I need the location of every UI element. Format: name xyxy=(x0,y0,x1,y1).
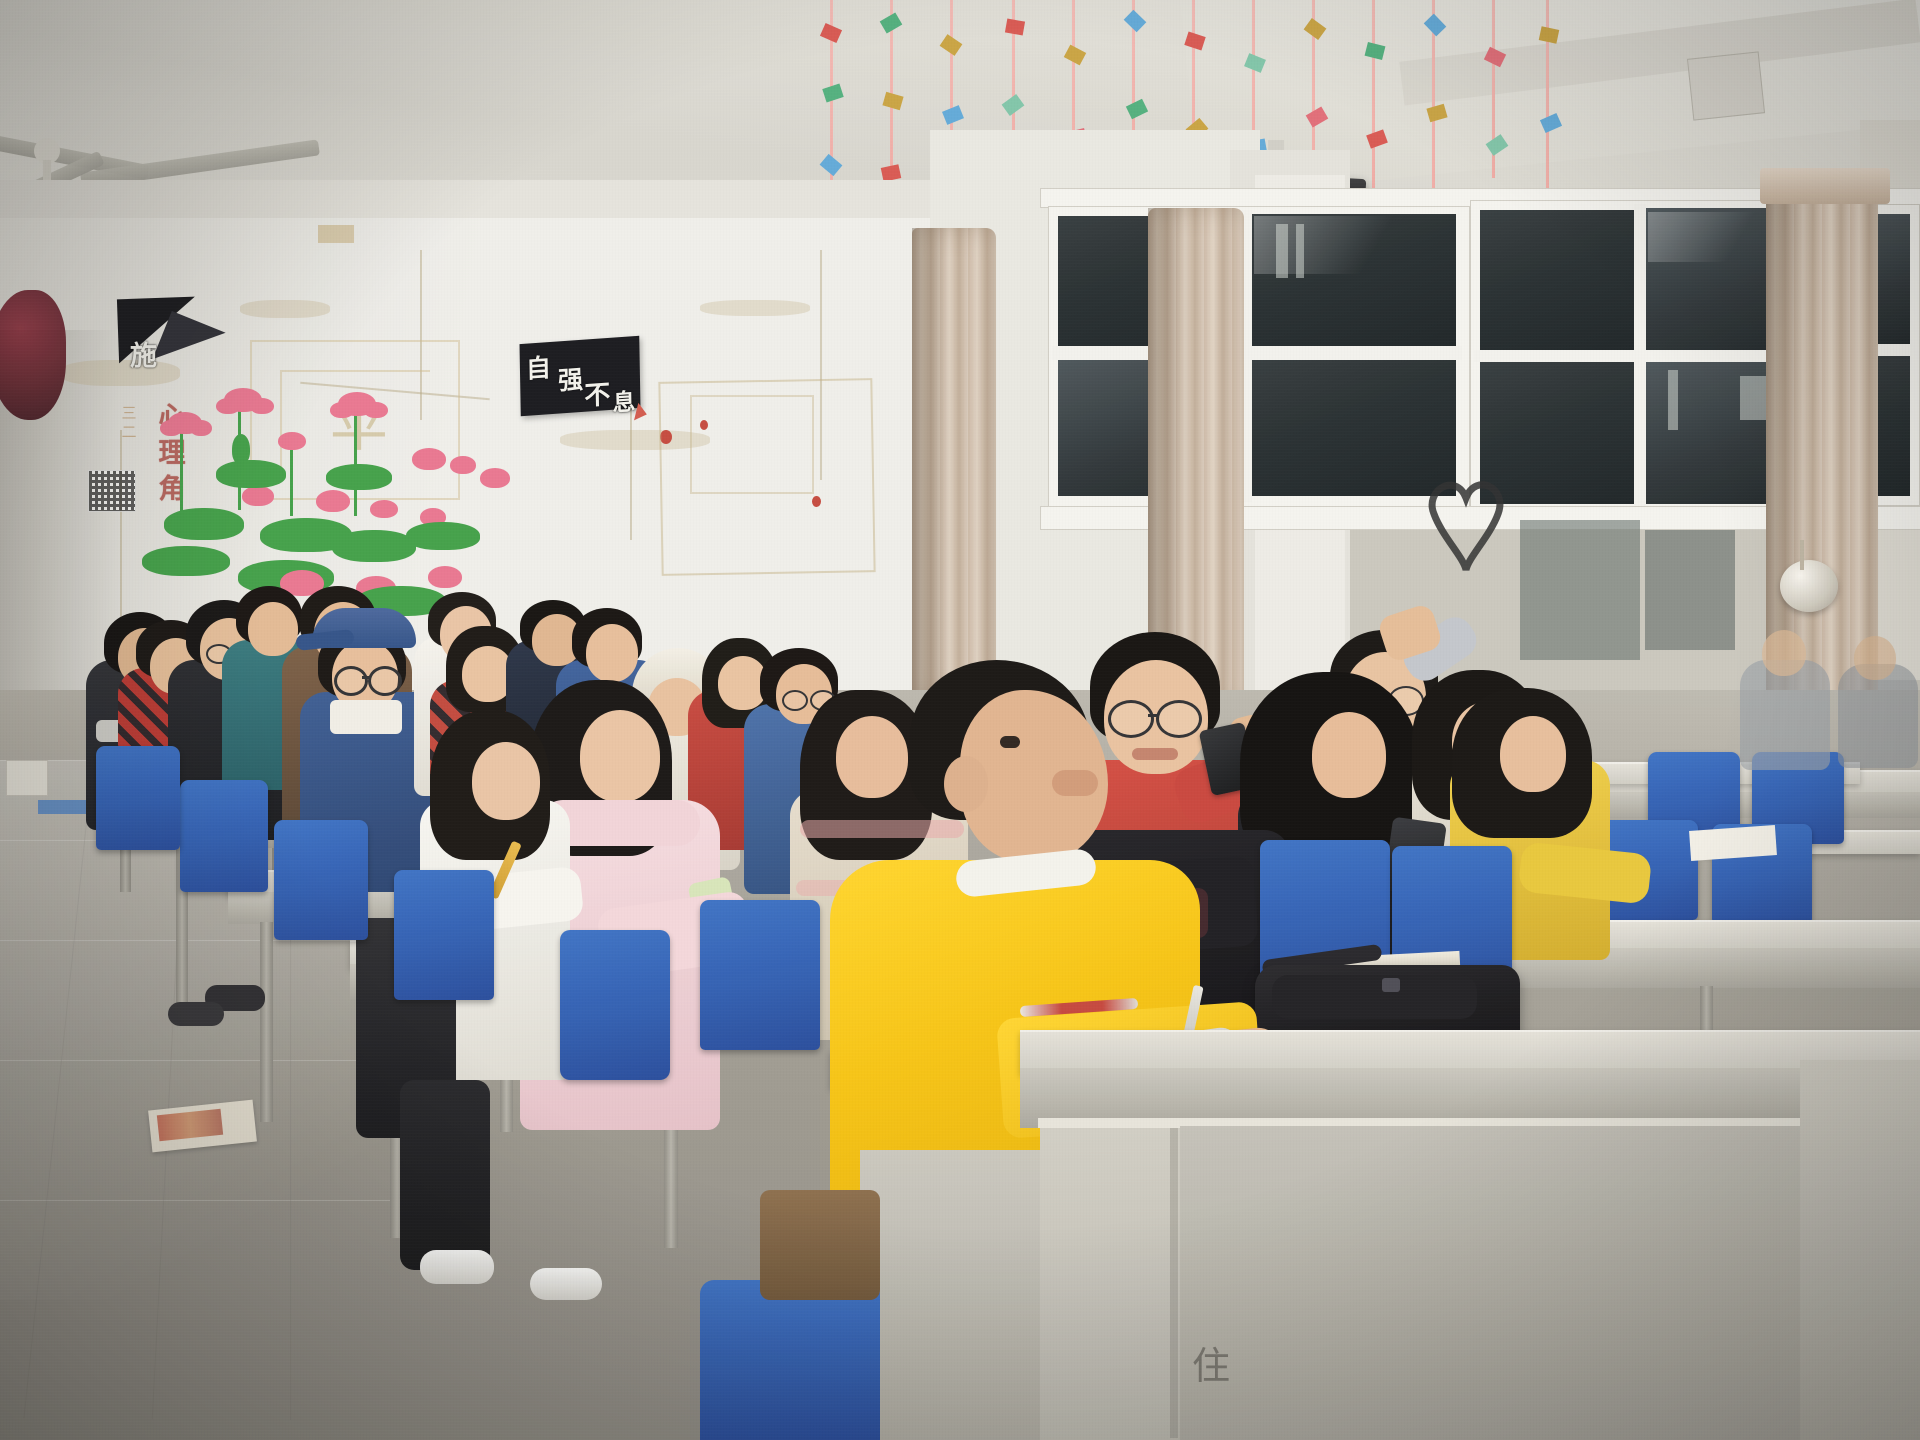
classroom-photo: 伞 施 三二 心理角 xyxy=(0,0,1920,1440)
film-grain-overlay xyxy=(0,0,1920,1440)
